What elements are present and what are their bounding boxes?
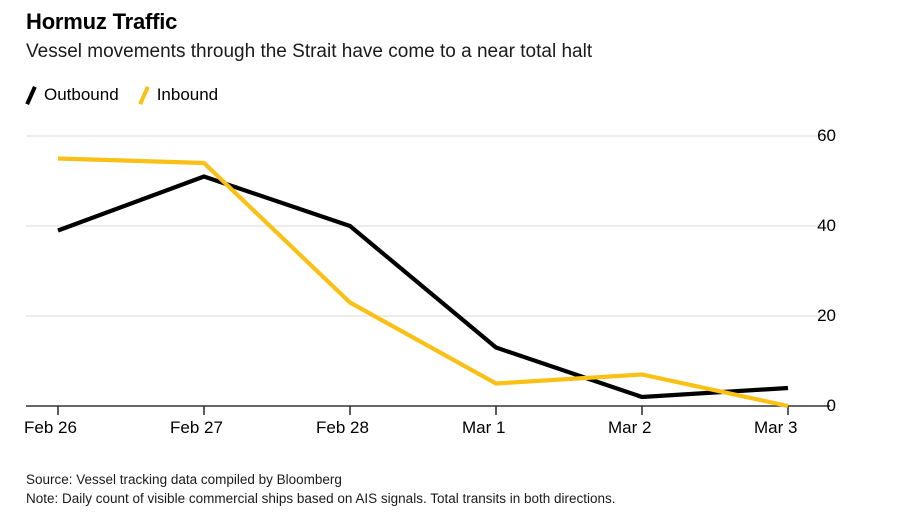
data-series bbox=[58, 159, 788, 407]
series-line-outbound bbox=[58, 177, 788, 398]
chart-footer: Source: Vessel tracking data compiled by… bbox=[26, 470, 876, 508]
y-axis-label: 20 bbox=[817, 307, 836, 324]
x-axis-label: Mar 1 bbox=[462, 418, 505, 438]
x-axis-ticks bbox=[58, 406, 788, 415]
x-axis-label: Mar 3 bbox=[754, 418, 797, 438]
x-axis-label: Feb 28 bbox=[316, 418, 369, 438]
y-axis-label: 40 bbox=[817, 217, 836, 234]
x-axis-label: Mar 2 bbox=[608, 418, 651, 438]
y-axis-label: 60 bbox=[817, 127, 836, 144]
chart-canvas bbox=[0, 0, 900, 460]
x-axis-label: Feb 27 bbox=[170, 418, 223, 438]
source-note: Source: Vessel tracking data compiled by… bbox=[26, 470, 876, 489]
y-axis-label: 0 bbox=[827, 397, 836, 414]
methodology-note: Note: Daily count of visible commercial … bbox=[26, 489, 876, 508]
series-line-inbound bbox=[58, 159, 788, 407]
x-axis-label: Feb 26 bbox=[24, 418, 77, 438]
chart-plot-area: 0204060 Feb 26Feb 27Feb 28Mar 1Mar 2Mar … bbox=[0, 0, 900, 460]
chart-page: Hormuz Traffic Vessel movements through … bbox=[0, 0, 900, 527]
